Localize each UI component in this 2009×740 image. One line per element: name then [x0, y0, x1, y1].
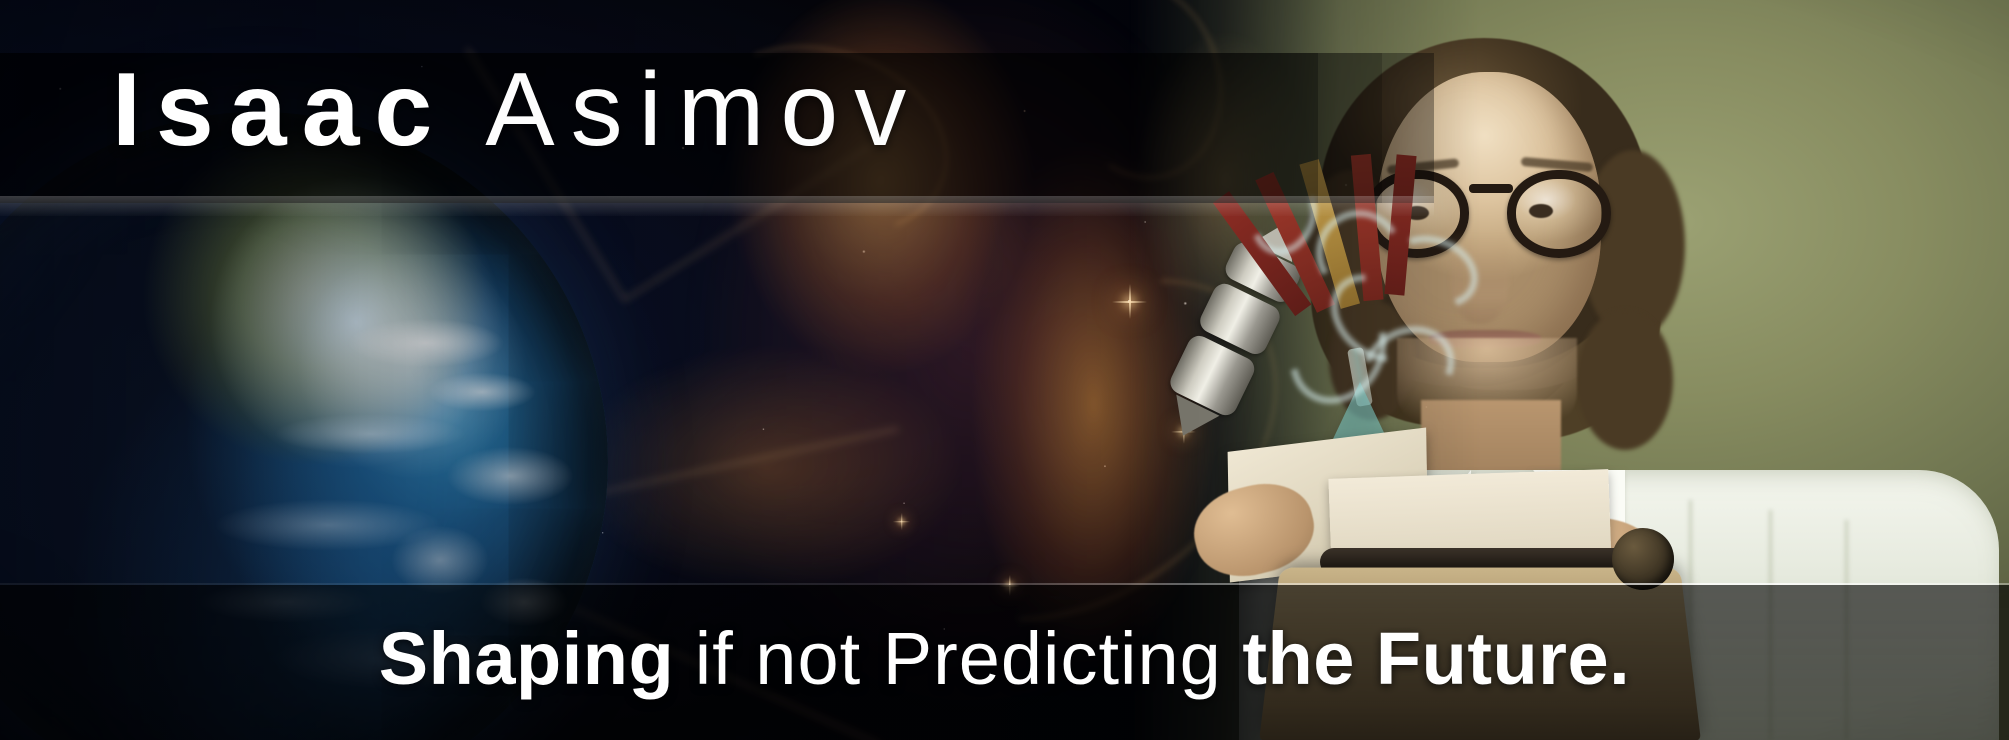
glasses-bridge [1469, 184, 1513, 193]
title-first-word: Isaac [112, 52, 447, 168]
banner-title: IsaacAsimov [112, 58, 922, 162]
lens-right [1507, 170, 1611, 258]
tagline-part1: Shaping [379, 617, 674, 700]
banner-tagline: Shaping if not Predicting the Future. [0, 622, 2009, 696]
tagline-part3: the Future. [1242, 617, 1630, 700]
typewriter-knob [1612, 528, 1674, 590]
title-last-word: Asimov [485, 52, 922, 168]
star-glint [901, 521, 903, 523]
star-glint [1009, 585, 1011, 587]
tagline-part2: if not Predicting [695, 617, 1222, 700]
asimov-banner: IsaacAsimov Shaping if not Predicting th… [0, 0, 2009, 740]
